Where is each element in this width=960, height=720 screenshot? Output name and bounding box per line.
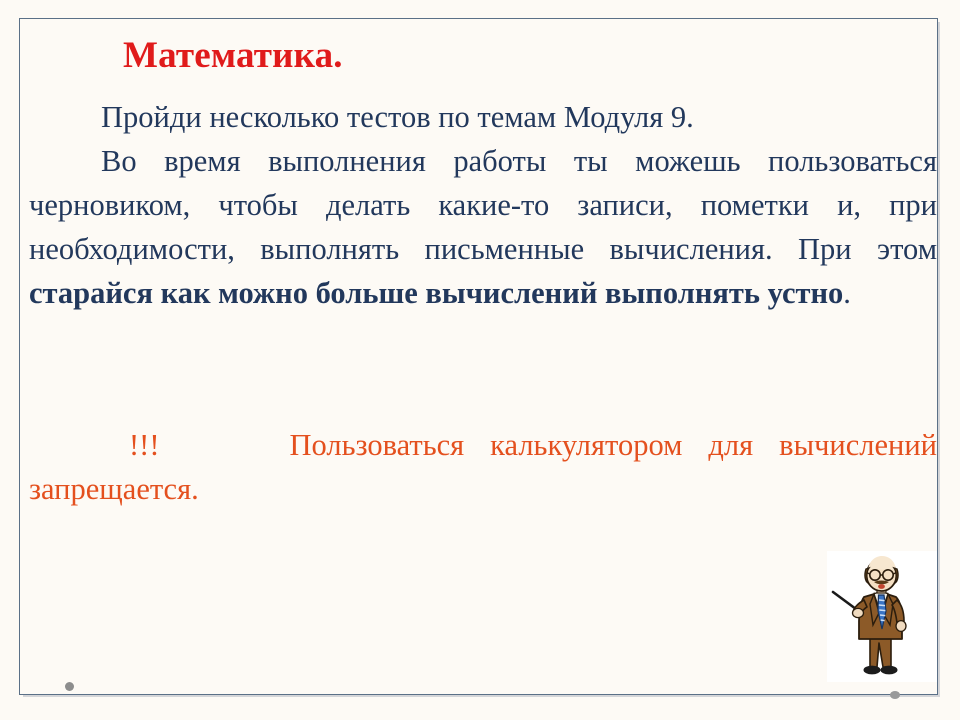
warning-text-block: !!! Пользоваться калькулятором для вычис… <box>29 423 937 511</box>
warning-marker: !!! <box>129 428 159 462</box>
page-title: Математика. <box>123 36 343 77</box>
paragraph-warning: !!! Пользоваться калькулятором для вычис… <box>29 423 937 511</box>
bullet-dot-left <box>65 682 74 691</box>
paragraph-intro: Пройди несколько тестов по темам Модуля … <box>29 95 937 139</box>
teacher-illustration <box>827 551 937 682</box>
instructions-tail-text: . <box>843 276 851 310</box>
instructions-emphasis-text: старайся как можно больше вычислений вып… <box>29 276 843 310</box>
slide-frame: Математика. Пройди несколько тестов по т… <box>19 18 938 695</box>
slide-content: Математика. Пройди несколько тестов по т… <box>20 19 937 694</box>
instructions-lead-text: Во время выполнения работы ты можешь пол… <box>29 144 937 266</box>
body-text-block: Пройди несколько тестов по темам Модуля … <box>29 95 937 315</box>
bullet-dot-right <box>890 691 900 699</box>
warning-spacer <box>159 428 289 462</box>
paragraph-instructions: Во время выполнения работы ты можешь пол… <box>29 139 937 315</box>
